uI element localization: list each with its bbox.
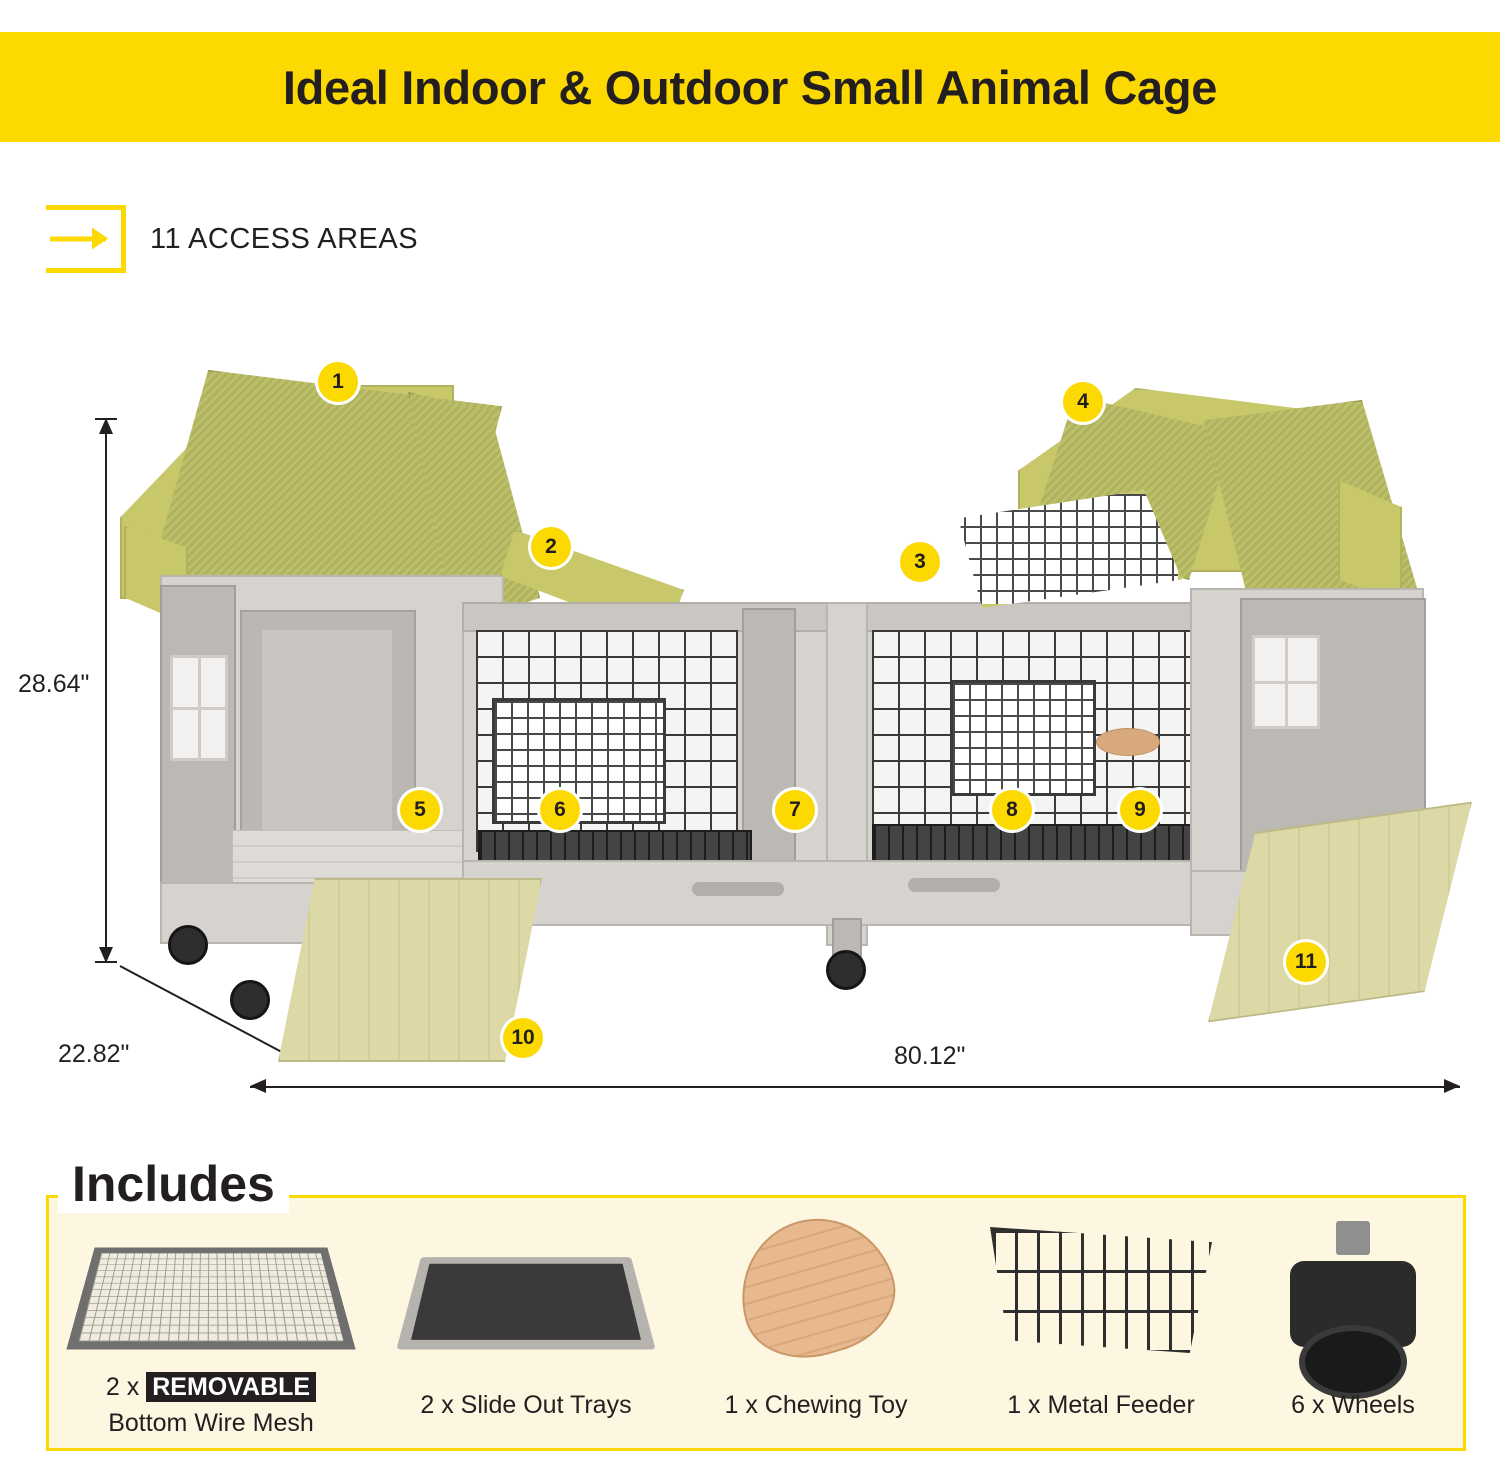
callout-7: 7 [775, 790, 815, 830]
includes-item-wheels: 6 x Wheels [1246, 1195, 1460, 1445]
wire-mesh-caption-line1: 2 x REMOVABLE [46, 1373, 376, 1402]
height-arrow-top [99, 418, 113, 434]
callout-5: 5 [400, 790, 440, 830]
right-house-window [1252, 635, 1320, 729]
callout-10: 10 [503, 1018, 543, 1058]
callout-8: 8 [992, 790, 1032, 830]
wheel-center [826, 950, 866, 990]
run-base-panel [462, 860, 1266, 926]
header-banner: Ideal Indoor & Outdoor Small Animal Cage [0, 32, 1500, 142]
callout-6: 6 [540, 790, 580, 830]
access-areas-row: 11 ACCESS AREAS [46, 205, 418, 273]
includes-item-metal-feeder: 1 x Metal Feeder [956, 1195, 1246, 1445]
arrow-right-bracket-icon [46, 205, 126, 273]
width-dimension-line [250, 1086, 1460, 1088]
right-roof-mesh-flap [944, 490, 1182, 608]
callout-2: 2 [531, 527, 571, 567]
wire-mesh-qty: 2 x [106, 1373, 139, 1401]
bottom-wire-mesh-right [872, 824, 1206, 862]
includes-title: Includes [58, 1155, 289, 1213]
includes-item-chewing-toy: 1 x Chewing Toy [676, 1195, 956, 1445]
width-dimension-label: 80.12" [884, 1042, 975, 1071]
callout-4: 4 [1063, 382, 1103, 422]
metal-feeder-caption: 1 x Metal Feeder [956, 1391, 1246, 1420]
callout-3: 3 [900, 542, 940, 582]
metal-feeder-icon [956, 1227, 1246, 1353]
wheel-front-left [168, 925, 208, 965]
slide-out-tray-handle-right [908, 878, 1000, 892]
wire-door-right [950, 680, 1096, 796]
width-arrow-right [1444, 1079, 1460, 1093]
width-arrow-left [250, 1079, 266, 1093]
callout-9: 9 [1120, 790, 1160, 830]
depth-dimension-label: 22.82" [58, 1040, 129, 1069]
page-title: Ideal Indoor & Outdoor Small Animal Cage [283, 60, 1217, 115]
wire-mesh-caption-line2: Bottom Wire Mesh [46, 1409, 376, 1438]
includes-item-slide-out-trays: 2 x Slide Out Trays [376, 1195, 676, 1445]
includes-item-wire-mesh: 2 x REMOVABLE Bottom Wire Mesh [46, 1195, 376, 1445]
wheel-icon [1246, 1221, 1460, 1399]
product-illustration: 28.64" 22.82" 80.12" [0, 330, 1500, 1120]
chewing-toy-icon [676, 1219, 956, 1355]
slide-out-trays-caption: 2 x Slide Out Trays [376, 1391, 676, 1420]
height-dimension-label: 28.64" [18, 670, 89, 699]
chew-toy-in-cage [1096, 728, 1160, 756]
callout-1: 1 [318, 362, 358, 402]
slide-out-tray-icon [376, 1235, 676, 1362]
wheel-front-left-2 [230, 980, 270, 1020]
left-house-window [170, 655, 228, 761]
chewing-toy-caption: 1 x Chewing Toy [676, 1391, 956, 1420]
callout-11: 11 [1286, 942, 1326, 982]
removable-badge: REMOVABLE [146, 1372, 316, 1402]
left-interior-back-wall [262, 630, 392, 830]
height-dimension-line [105, 418, 107, 963]
slide-out-tray-handle-left [692, 882, 784, 896]
wheels-caption: 6 x Wheels [1246, 1391, 1460, 1420]
wire-mesh-icon [46, 1225, 376, 1361]
height-arrow-bottom [99, 947, 113, 963]
access-areas-label: 11 ACCESS AREAS [150, 223, 418, 256]
